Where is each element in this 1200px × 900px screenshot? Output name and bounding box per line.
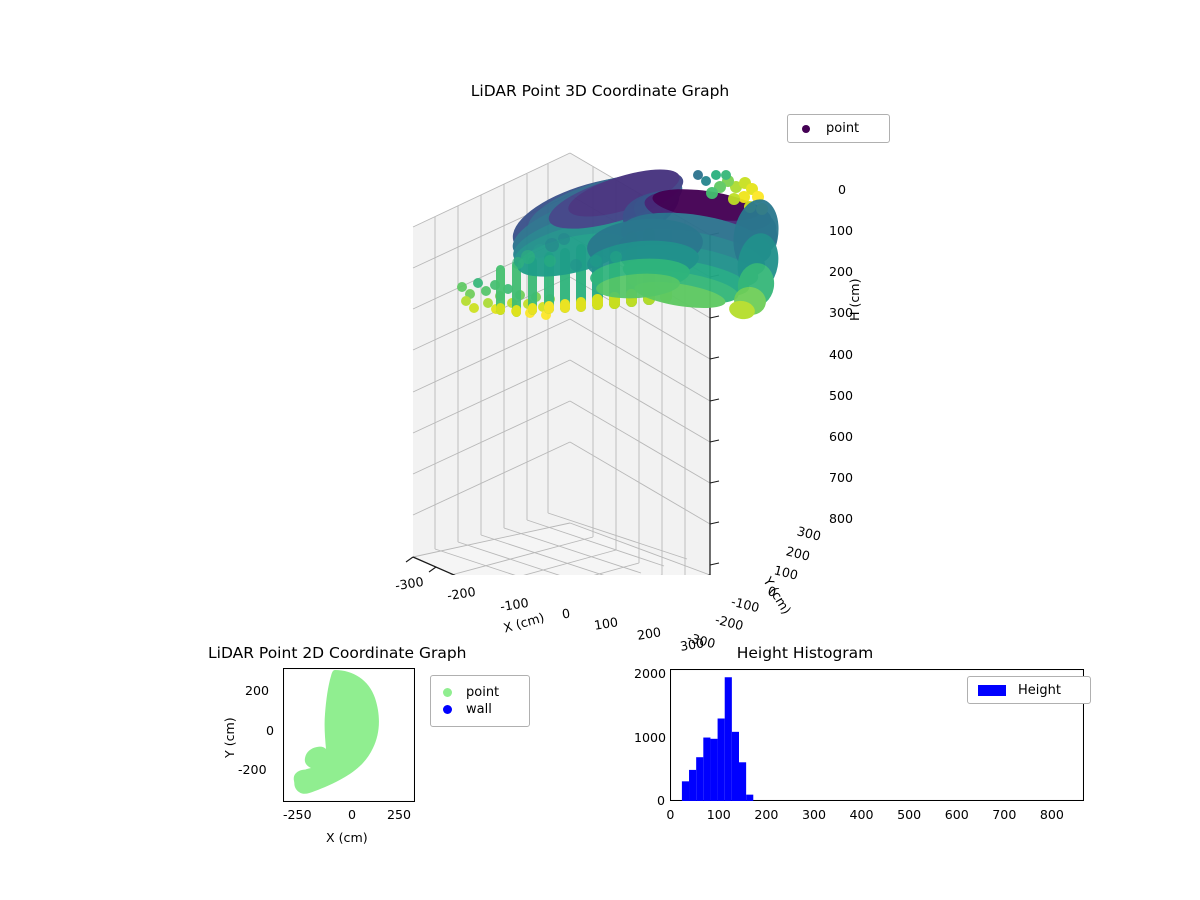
plot3d-axes (400, 105, 880, 575)
histogram-bar (725, 677, 732, 801)
histogram-bar (746, 795, 753, 801)
histogram-bar (718, 719, 725, 802)
plot3d-ztick-200: 200 (829, 264, 853, 279)
plot3d-legend[interactable]: point (787, 114, 890, 143)
plot2d-title: LiDAR Point 2D Coordinate Graph (208, 644, 466, 662)
wall-marker-icon (443, 705, 452, 714)
point-marker-icon (802, 125, 810, 133)
plot3d-ztick-0: 0 (838, 182, 846, 197)
plot3d-xtick--200: -200 (446, 584, 477, 603)
plot3d-xtick--100: -100 (499, 595, 530, 614)
histogram-ytick-0: 0 (657, 793, 665, 808)
histogram-legend[interactable]: Height (967, 676, 1091, 704)
plot3d-legend-item-point[interactable]: point (796, 121, 881, 136)
plot3d-ztick-500: 500 (829, 388, 853, 403)
histogram-bar (696, 757, 703, 801)
histogram-legend-item-height[interactable]: Height (974, 683, 1084, 698)
plot3d-title: LiDAR Point 3D Coordinate Graph (0, 82, 1200, 100)
plot3d-ztick-700: 700 (829, 470, 853, 485)
plot3d-xtick--300: -300 (394, 574, 425, 593)
histogram-xtick-400: 400 (850, 807, 874, 822)
histogram-xtick-300: 300 (802, 807, 826, 822)
plot2d-yaxis-label: Y (cm) (222, 717, 237, 758)
plot2d-xtick--250: -250 (283, 807, 312, 822)
plot3d-zaxis-label: H (cm) (847, 279, 862, 322)
plot2d-canvas (283, 668, 415, 802)
histogram-ytick-1000: 1000 (634, 730, 666, 745)
plot3d-xtick-0: 0 (561, 605, 571, 621)
histogram-title: Height Histogram (737, 644, 874, 662)
plot3d-ytick--200: -200 (714, 612, 745, 633)
histogram-bar (682, 781, 689, 801)
plot3d-ztick-100: 100 (829, 223, 853, 238)
histogram-xtick-700: 700 (992, 807, 1016, 822)
plot2d-xtick-0: 0 (348, 807, 356, 822)
histogram-xtick-800: 800 (1040, 807, 1064, 822)
plot3d-ztick-800: 800 (829, 511, 853, 526)
plot2d-legend-item-wall[interactable]: wall (437, 702, 523, 717)
height-color-swatch-icon (978, 685, 1006, 696)
plot3d-xaxis-label: X (cm) (502, 610, 546, 636)
matplotlib-figure: LiDAR Point 3D Coordinate Graph (0, 0, 1200, 900)
histogram-ytick-2000: 2000 (634, 666, 666, 681)
histogram-xtick-600: 600 (945, 807, 969, 822)
plot3d-ztick-400: 400 (829, 347, 853, 362)
plot3d-xtick-200: 200 (636, 624, 662, 643)
plot3d-legend-label: point (826, 121, 859, 136)
plot2d-ytick--200: -200 (238, 762, 267, 777)
plot2d-legend[interactable]: point wall (430, 675, 530, 727)
plot2d-legend-label-wall: wall (466, 702, 492, 717)
point-marker-icon (443, 688, 452, 697)
histogram-bar (739, 762, 746, 801)
plot2d-ytick-0: 0 (266, 723, 274, 738)
plot2d-xaxis-label: X (cm) (326, 830, 368, 845)
plot2d-legend-item-point[interactable]: point (437, 685, 523, 700)
plot2d-ytick-200: 200 (245, 683, 269, 698)
plot3d-xtick-100: 100 (593, 614, 619, 633)
plot3d-ztick-600: 600 (829, 429, 853, 444)
plot3d-canvas (400, 105, 880, 575)
plot2d-xtick-250: 250 (387, 807, 411, 822)
plot2d-legend-label-point: point (466, 685, 499, 700)
histogram-bar (703, 738, 710, 801)
histogram-bar (732, 732, 739, 801)
plot2d-axes (283, 668, 415, 802)
histogram-legend-label: Height (1018, 683, 1061, 698)
histogram-xtick-500: 500 (897, 807, 921, 822)
histogram-bars (682, 677, 753, 801)
plot3d-ytick--100: -100 (730, 594, 761, 615)
histogram-xtick-0: 0 (666, 807, 674, 822)
histogram-bar (710, 739, 717, 801)
histogram-xtick-100: 100 (707, 807, 731, 822)
histogram-bar (689, 770, 696, 801)
histogram-xtick-200: 200 (754, 807, 778, 822)
